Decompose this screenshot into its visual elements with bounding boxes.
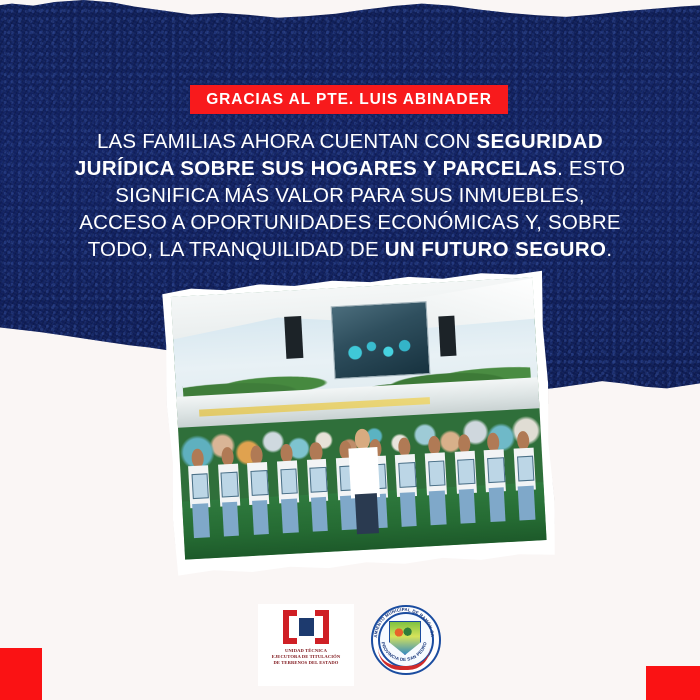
headline-banner: GRACIAS AL PTE. LUIS ABINADER bbox=[190, 85, 508, 114]
logo-row: UNIDAD TÉCNICA EJECUTORA DE TITULACIÓN D… bbox=[258, 604, 448, 690]
photo-president-figure bbox=[347, 428, 383, 535]
headline-banner-label: GRACIAS AL PTE. LUIS ABINADER bbox=[206, 91, 492, 109]
photo-speaker-left bbox=[284, 316, 303, 359]
photo-person bbox=[275, 443, 301, 533]
logo-unidad-tecnica: UNIDAD TÉCNICA EJECUTORA DE TITULACIÓN D… bbox=[258, 604, 354, 686]
headline-seg-0: LAS FAMILIAS AHORA CUENTAN CON bbox=[97, 130, 476, 153]
photo-image bbox=[171, 277, 547, 559]
logo-ayuntamiento-ramon-santana: AYUNTAMIENTO MUNICIPAL DE RAMÓN SANTANA … bbox=[368, 604, 442, 682]
brackets-icon bbox=[283, 610, 329, 644]
photo-person bbox=[423, 435, 449, 525]
photo-person bbox=[246, 445, 272, 535]
photo-person bbox=[482, 432, 508, 522]
photo-speaker-right bbox=[438, 316, 456, 356]
red-accent-bottom-right bbox=[646, 666, 700, 700]
photo-person bbox=[512, 430, 538, 520]
photo-person bbox=[305, 441, 331, 531]
headline-paragraph: LAS FAMILIAS AHORA CUENTAN CON SEGURIDAD… bbox=[70, 128, 630, 263]
logo-line-3: DE TERRENOS DEL ESTADO bbox=[272, 660, 341, 666]
logo-unidad-tecnica-text: UNIDAD TÉCNICA EJECUTORA DE TITULACIÓN D… bbox=[272, 648, 341, 666]
seal-ring-text-bottom: PROVINCIA DE SAN PEDRO bbox=[380, 641, 427, 662]
photo-person bbox=[216, 446, 242, 536]
photo-person bbox=[186, 448, 212, 538]
photo-led-screen bbox=[331, 302, 431, 380]
seal-ring-text: AYUNTAMIENTO MUNICIPAL DE RAMÓN SANTANA … bbox=[371, 605, 437, 671]
poster-canvas: GRACIAS AL PTE. LUIS ABINADER LAS FAMILI… bbox=[0, 0, 700, 700]
event-photo: Grupo de personas sosteniendo certificad… bbox=[160, 268, 557, 578]
headline-seg-3: UN FUTURO SEGURO bbox=[385, 238, 607, 261]
seal-ring-text-top: AYUNTAMIENTO MUNICIPAL DE RAMÓN SANTANA bbox=[371, 605, 435, 638]
photo-person bbox=[453, 433, 479, 523]
red-accent-bottom-left bbox=[0, 648, 42, 700]
photo-person bbox=[393, 437, 419, 527]
headline-seg-4: . bbox=[606, 238, 612, 261]
